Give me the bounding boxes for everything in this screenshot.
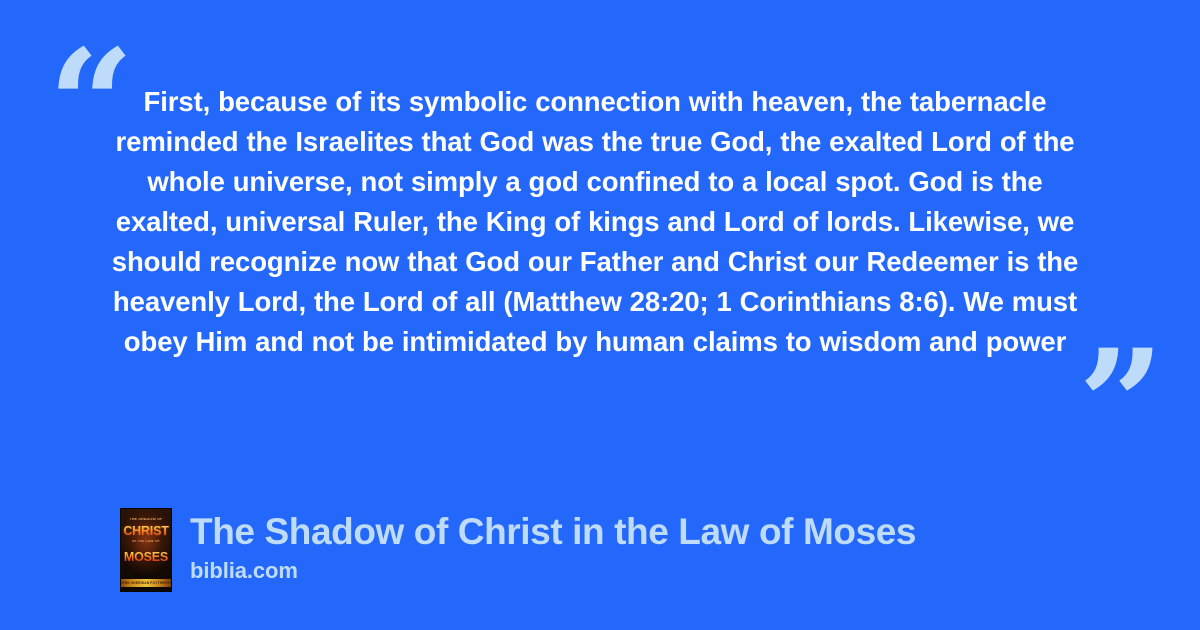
book-cover-author: VERN SHERIDAN POYTHRESS [120, 581, 172, 585]
source-title: The Shadow of Christ in the Law of Moses [190, 510, 916, 554]
quote-body: First, because of its symbolic connectio… [110, 82, 1080, 362]
book-cover-author-band: VERN SHERIDAN POYTHRESS [121, 579, 171, 587]
attribution-text: The Shadow of Christ in the Law of Moses… [190, 508, 916, 584]
book-cover-line-mid: IN THE LAW OF [121, 540, 171, 543]
source-domain: biblia.com [190, 558, 916, 584]
book-cover-thumbnail: THE SHADOW OF CHRIST IN THE LAW OF MOSES… [120, 508, 172, 592]
quote-card: “ First, because of its symbolic connect… [0, 0, 1200, 630]
book-cover-line-christ: CHRIST [121, 525, 171, 538]
quote-text: First, because of its symbolic connectio… [110, 82, 1080, 362]
close-quote-icon: ” [1078, 330, 1162, 480]
book-cover-line-moses: MOSES [121, 551, 171, 564]
book-cover-line-top: THE SHADOW OF [121, 518, 171, 522]
attribution: THE SHADOW OF CHRIST IN THE LAW OF MOSES… [120, 508, 916, 592]
